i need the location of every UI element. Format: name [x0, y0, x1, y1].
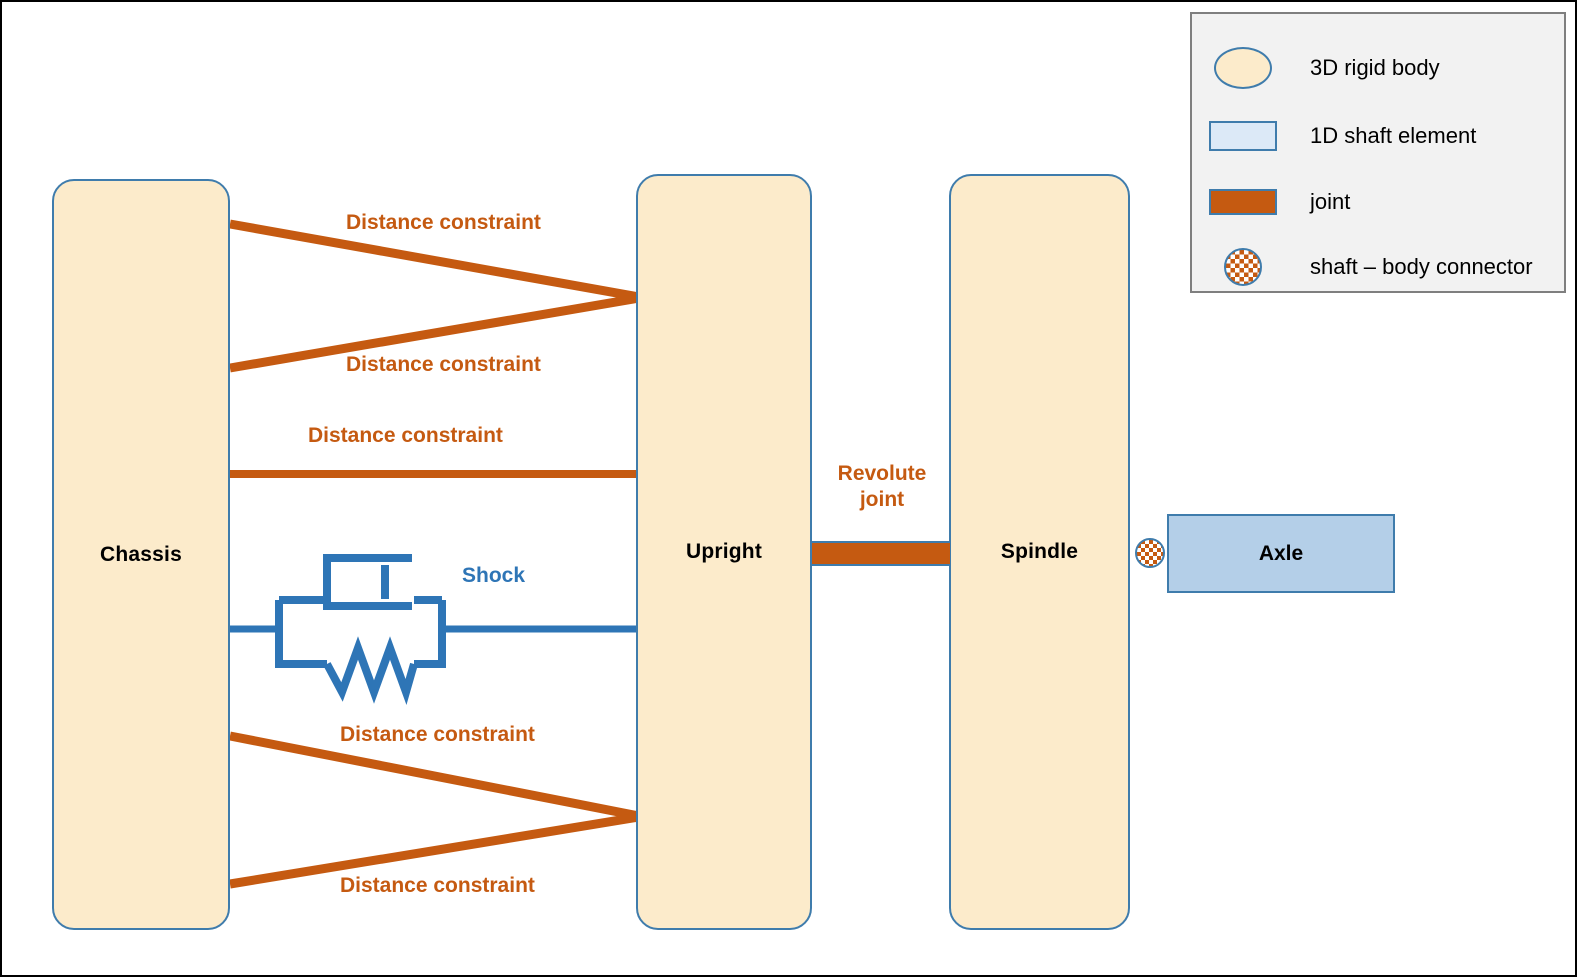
label-shock: Shock [462, 564, 525, 588]
revolute-joint-bar[interactable] [812, 541, 950, 566]
label-distance-constraint-upper-2: Distance constraint [346, 353, 541, 377]
legend-swatch-container [1208, 189, 1278, 215]
legend-swatch-container [1208, 47, 1278, 89]
rect-orange-icon [1209, 189, 1277, 215]
label-distance-constraint-lower-1: Distance constraint [340, 723, 535, 747]
label-distance-constraint-lower-2: Distance constraint [340, 874, 535, 898]
label-distance-constraint-upper-1: Distance constraint [346, 211, 541, 235]
diagram-canvas: Chassis Upright Spindle Axle Distance co… [0, 0, 1577, 977]
body-chassis-label: Chassis [100, 543, 182, 567]
legend-label-rigid-body: 3D rigid body [1310, 55, 1440, 81]
body-spindle-label: Spindle [1001, 540, 1078, 564]
legend-swatch-container [1208, 121, 1278, 151]
legend-panel: 3D rigid body 1D shaft element joint sha… [1190, 12, 1566, 293]
legend-item-shaft-body-connector: shaft – body connector [1192, 239, 1564, 295]
legend-label-shaft-body-connector: shaft – body connector [1310, 254, 1533, 280]
label-revolute-joint-line2: joint [812, 488, 952, 512]
legend-item-shaft-element: 1D shaft element [1192, 108, 1564, 164]
body-upright[interactable]: Upright [636, 174, 812, 930]
legend-label-joint: joint [1310, 189, 1350, 215]
body-spindle[interactable]: Spindle [949, 174, 1130, 930]
legend-item-rigid-body: 3D rigid body [1192, 40, 1564, 96]
label-revolute-joint: Revolute joint [812, 462, 952, 512]
shaft-body-connector-icon[interactable] [1135, 538, 1165, 568]
shaft-element-axle-label: Axle [1259, 542, 1303, 566]
body-upright-label: Upright [686, 540, 762, 564]
body-chassis[interactable]: Chassis [52, 179, 230, 930]
spring-coil [327, 648, 414, 692]
shock-symbol [279, 558, 442, 692]
shock-outer-bracket [279, 600, 327, 664]
circle-checker-icon [1224, 248, 1262, 286]
rect-lightblue-icon [1209, 121, 1277, 151]
label-distance-constraint-middle: Distance constraint [308, 424, 503, 448]
shaft-element-axle[interactable]: Axle [1167, 514, 1395, 593]
shock-outer-bracket-right [414, 600, 442, 664]
distance-constraint-line-lower-1 [230, 736, 639, 816]
legend-swatch-container [1208, 248, 1278, 286]
legend-item-joint: joint [1192, 174, 1564, 230]
label-revolute-joint-line1: Revolute [812, 462, 952, 486]
ellipse-cream-icon [1214, 47, 1272, 89]
damper-cylinder [327, 558, 412, 606]
legend-label-shaft-element: 1D shaft element [1310, 123, 1476, 149]
